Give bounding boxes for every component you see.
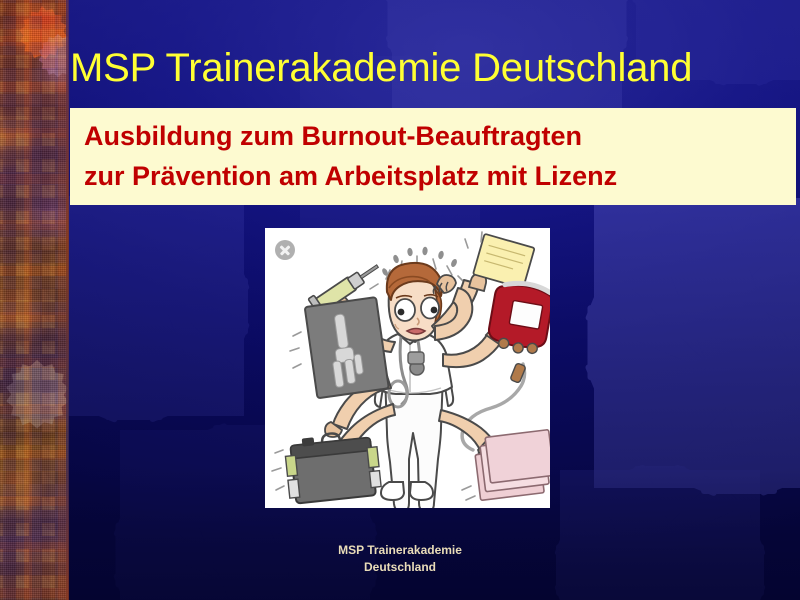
presentation-slide: MSP Trainerakademie Deutschland Ausbildu… xyxy=(0,0,800,600)
slide-footer: MSP Trainerakademie Deutschland xyxy=(0,542,800,576)
subtitle-line-1: Ausbildung zum Burnout-Beauftragten xyxy=(84,116,782,156)
page-title: MSP Trainerakademie Deutschland xyxy=(70,44,786,92)
footer-line-1: MSP Trainerakademie xyxy=(0,542,800,559)
decorative-collage-strip xyxy=(0,0,68,600)
subtitle-line-2: zur Prävention am Arbeitsplatz mit Lizen… xyxy=(84,156,782,196)
slide-image[interactable] xyxy=(265,228,550,508)
broken-image-x-icon xyxy=(275,240,295,260)
subtitle-banner: Ausbildung zum Burnout-Beauftragten zur … xyxy=(70,108,796,205)
footer-line-2: Deutschland xyxy=(0,559,800,576)
overwhelmed-nurse-illustration xyxy=(265,228,550,508)
strip-divider xyxy=(66,0,69,600)
